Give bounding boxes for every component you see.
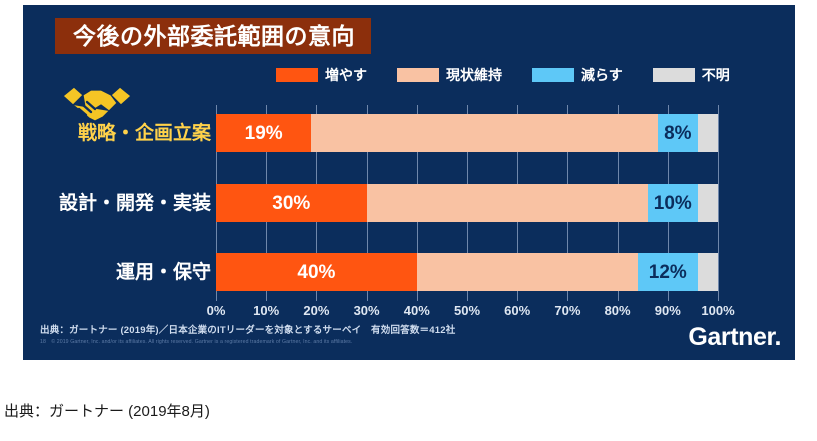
gridline (718, 105, 719, 301)
gartner-logo-dot: . (774, 323, 781, 351)
bar-value-label: 8% (664, 124, 691, 143)
bar-segment-unknown (698, 253, 718, 291)
bar-segment-unknown (698, 184, 718, 222)
x-tick-label: 40% (404, 304, 430, 317)
bar-value-label: 30% (272, 194, 310, 213)
chart-x-axis: 0% 10% 20% 30% 40% 50% 60% 70% 80% 90% 1… (216, 304, 718, 322)
category-label-design: 設計・開発・実装 (26, 194, 211, 213)
x-tick-label: 50% (454, 304, 480, 317)
chart-plot-area: 19% 8% 30% 10% (216, 105, 718, 301)
bar-segment-maintain (367, 184, 648, 222)
bar-segment-increase: 40% (216, 253, 417, 291)
bar-value-label: 12% (649, 263, 687, 282)
bar-segment-increase: 19% (216, 114, 311, 152)
x-tick-label: 20% (303, 304, 329, 317)
bar-value-label: 19% (245, 124, 283, 143)
bar-segment-decrease: 12% (638, 253, 698, 291)
x-tick-label: 90% (655, 304, 681, 317)
x-tick-label: 60% (504, 304, 530, 317)
category-label-strategy: 戦略・企画立案 (26, 124, 211, 143)
stacked-bar-chart: 戦略・企画立案 設計・開発・実装 運用・保守 19% (23, 5, 795, 360)
footnote-copyright: 18 © 2019 Gartner, Inc. and/or its affil… (40, 339, 660, 346)
bar-segment-decrease: 10% (648, 184, 698, 222)
bar-segment-maintain (417, 253, 638, 291)
x-tick-label: 10% (253, 304, 279, 317)
x-tick-label: 80% (605, 304, 631, 317)
bar-row-design: 30% 10% (216, 184, 718, 222)
bar-value-label: 40% (297, 263, 335, 282)
bar-row-operations: 40% 12% (216, 253, 718, 291)
x-tick-label: 0% (207, 304, 226, 317)
gartner-logo-text: Gartner (688, 323, 774, 351)
x-tick-label: 70% (554, 304, 580, 317)
x-tick-label: 100% (701, 304, 734, 317)
chart-category-labels: 戦略・企画立案 設計・開発・実装 運用・保守 (23, 105, 211, 301)
bar-segment-maintain (311, 114, 657, 152)
x-tick-label: 30% (354, 304, 380, 317)
bar-segment-decrease: 8% (658, 114, 698, 152)
source-caption: 出典：ガートナー (2019年8月) (4, 404, 210, 419)
footnote-source: 出典：ガートナー (2019年)／日本企業のITリーダーを対象とするサーベイ 有… (40, 325, 660, 336)
bar-segment-increase: 30% (216, 184, 367, 222)
gartner-slide: 今後の外部委託範囲の意向 増やす 現状維持 減らす 不明 (23, 5, 795, 360)
bar-value-label: 10% (654, 194, 692, 213)
gartner-logo: Gartner. (688, 325, 781, 350)
footnote: 出典：ガートナー (2019年)／日本企業のITリーダーを対象とするサーベイ 有… (40, 325, 660, 347)
bar-segment-unknown (698, 114, 718, 152)
category-label-operations: 運用・保守 (26, 263, 211, 282)
bar-row-strategy: 19% 8% (216, 114, 718, 152)
